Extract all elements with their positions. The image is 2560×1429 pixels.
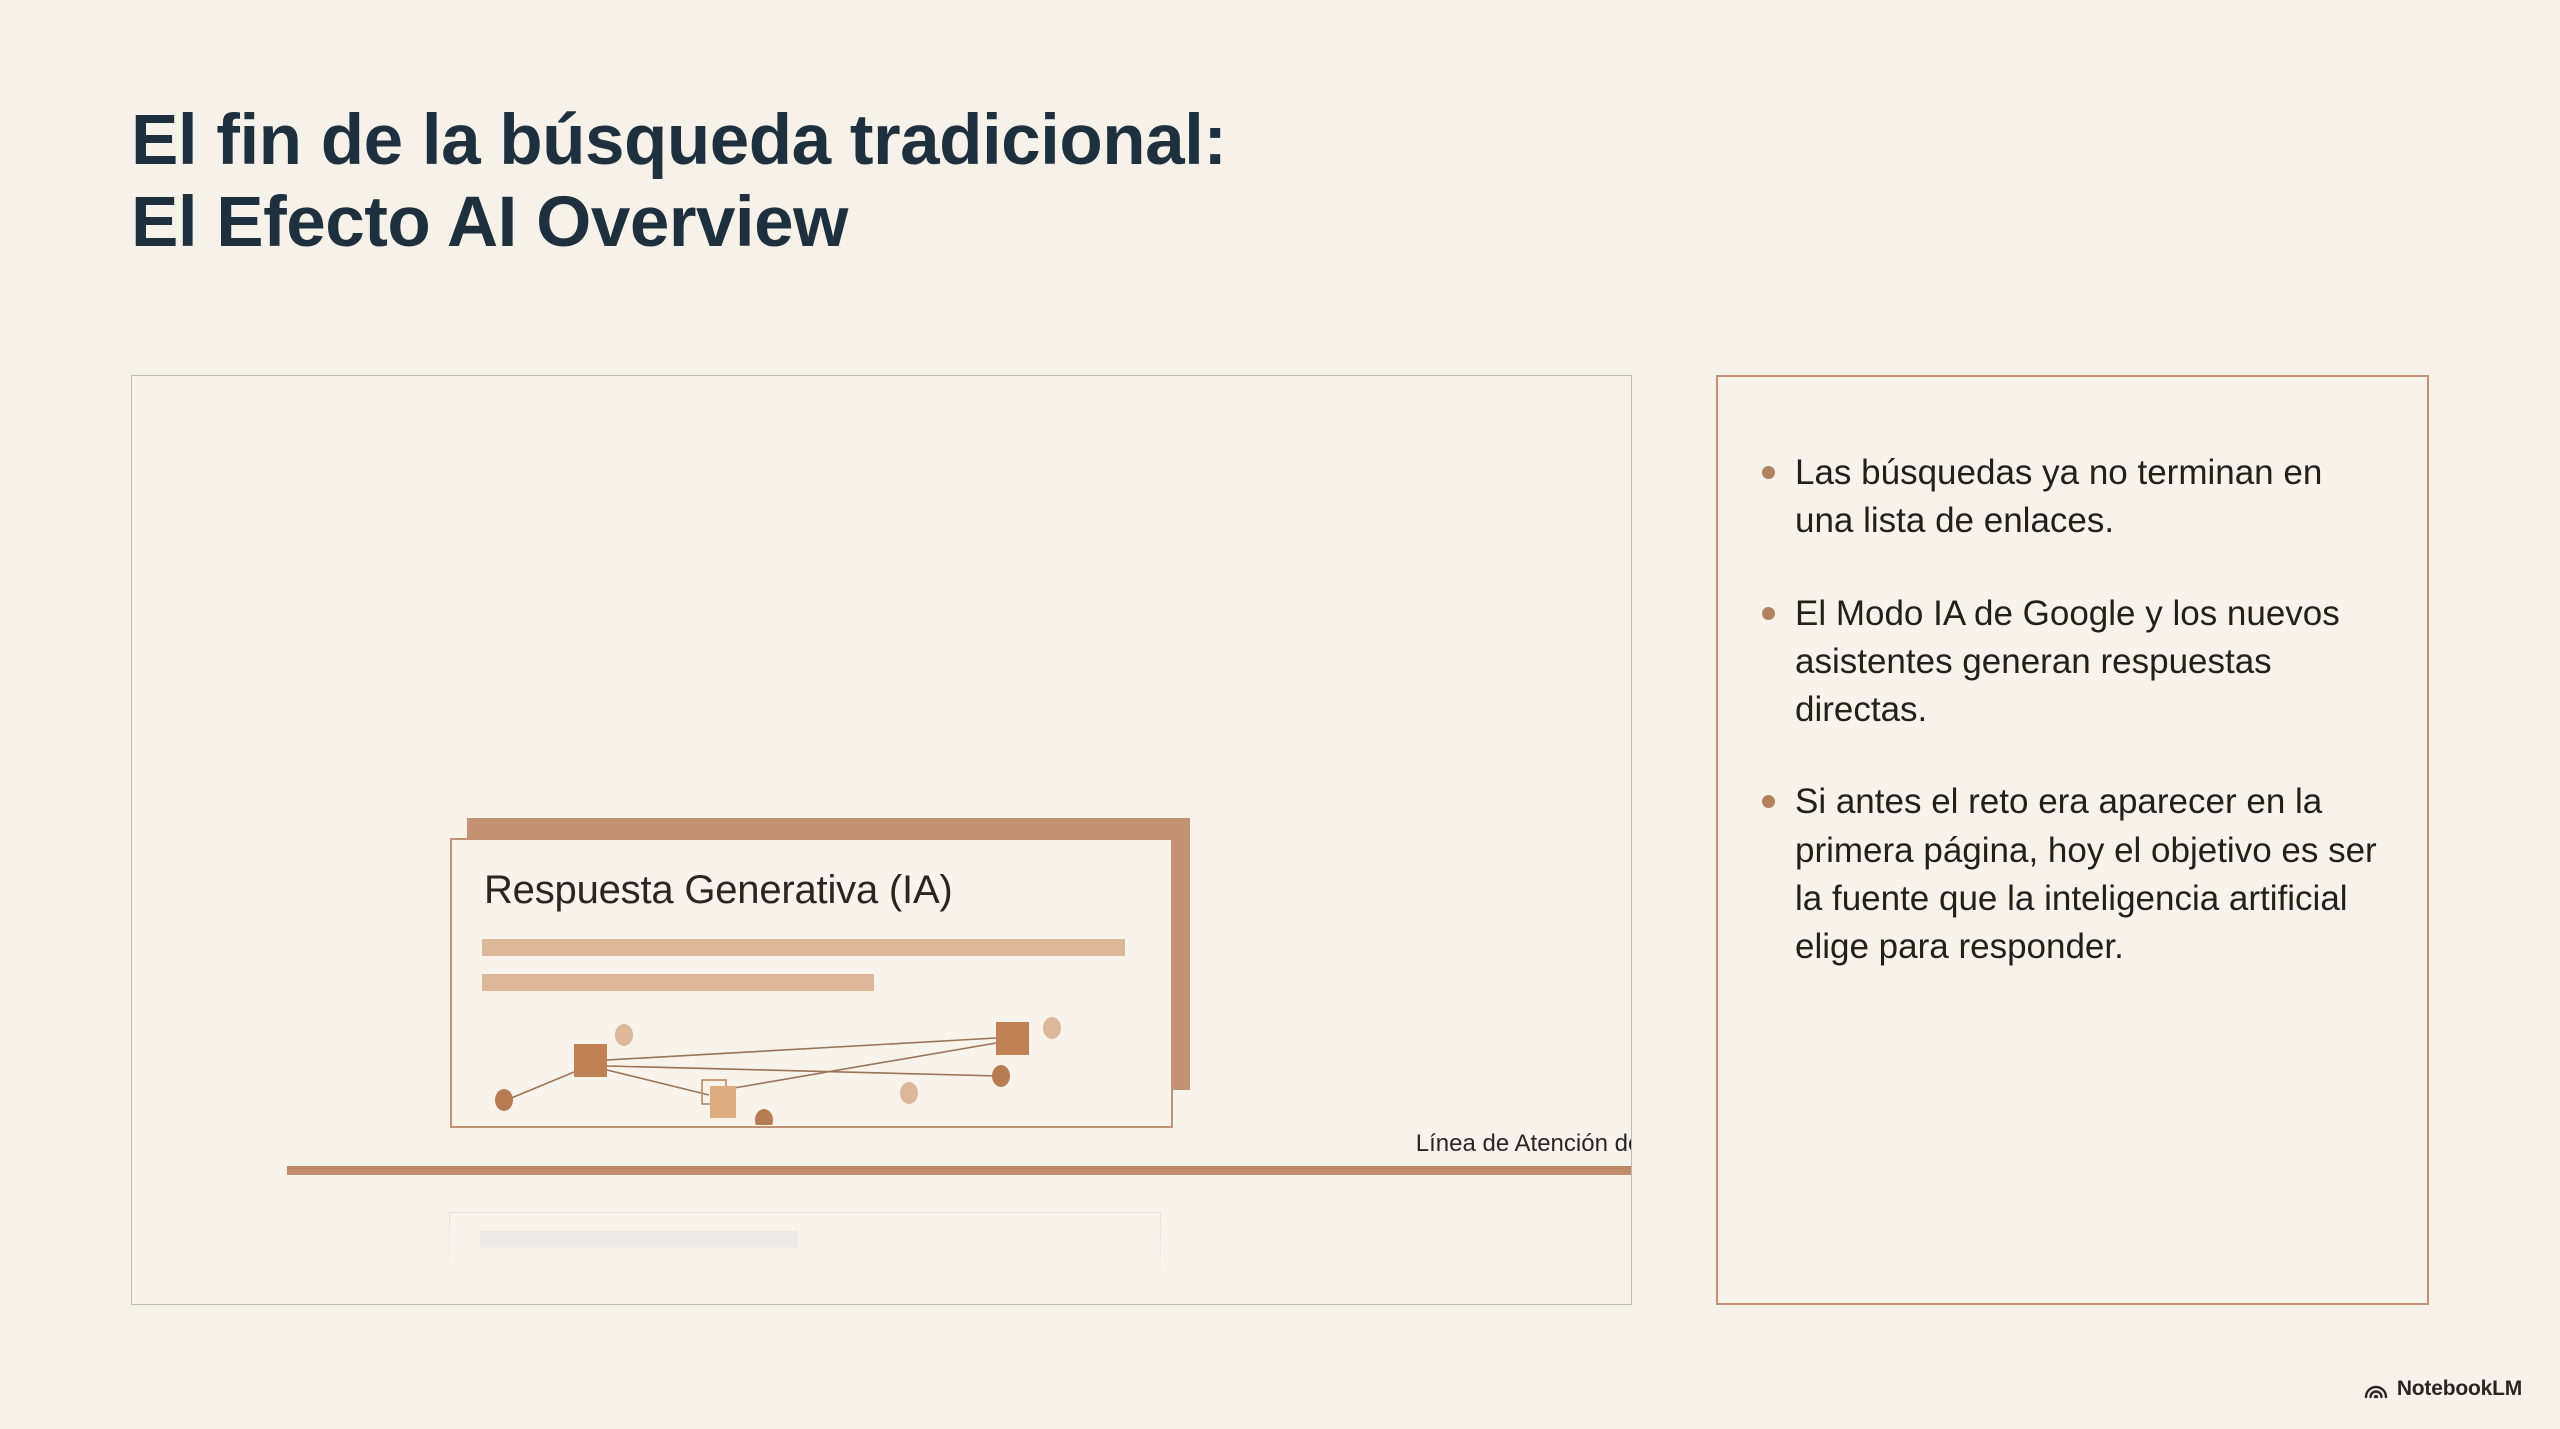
- page-title-line-1: El fin de la búsqueda tradicional:: [131, 100, 1831, 182]
- edge-left-square-to-mid-square: [607, 1070, 709, 1095]
- node-square-small-mid: [710, 1086, 736, 1118]
- bullet-dot-icon: [1762, 466, 1775, 479]
- list-item: Las búsquedas ya no terminan en una list…: [1762, 449, 2383, 546]
- edge-left-square-to-right-dot: [607, 1066, 999, 1076]
- edge-mid-square-to-right-square: [734, 1042, 1002, 1088]
- diagram-panel: Respuesta Generativa (IA): [131, 375, 1632, 1305]
- notebooklm-arc-icon: [2364, 1379, 2388, 1399]
- bullet-dot-icon: [1762, 607, 1775, 620]
- list-item: El Modo IA de Google y los nuevos asiste…: [1762, 590, 2383, 735]
- key-points-panel: Las búsquedas ya no terminan en una list…: [1716, 375, 2429, 1305]
- node-dot-bottom: [755, 1109, 773, 1125]
- generative-answer-card: Respuesta Generativa (IA): [450, 838, 1173, 1128]
- bullet-text: Si antes el reto era aparecer en la prim…: [1795, 778, 2383, 971]
- page-title: El fin de la búsqueda tradicional: El Ef…: [131, 100, 1831, 265]
- bullet-dot-icon: [1762, 795, 1775, 808]
- result-skeleton-line: [480, 1270, 1098, 1287]
- notebooklm-branding: NotebookLM: [2364, 1377, 2522, 1401]
- node-square-large-left: [574, 1044, 607, 1077]
- knowledge-graph-illustration: [474, 1000, 1164, 1125]
- attention-line-bar: [287, 1166, 1632, 1175]
- generative-card-title: Respuesta Generativa (IA): [484, 868, 953, 913]
- bullet-text: Las búsquedas ya no terminan en una list…: [1795, 449, 2383, 546]
- page-title-line-2: El Efecto AI Overview: [131, 182, 1831, 264]
- generative-card-bar-2: [482, 974, 874, 991]
- node-dot-upper-left: [615, 1024, 633, 1046]
- node-dot-left-low: [495, 1089, 513, 1111]
- list-item: Si antes el reto era aparecer en la prim…: [1762, 778, 2383, 971]
- result-skeleton-line: [480, 1299, 952, 1305]
- result-skeleton-line: [480, 1231, 798, 1248]
- notebooklm-brand-text: NotebookLM: [2397, 1377, 2522, 1401]
- edge-left-square-to-right-square: [607, 1038, 996, 1060]
- node-dot-center-low: [900, 1082, 918, 1104]
- node-dot-right-mid: [992, 1065, 1010, 1087]
- attention-line-label: Línea de Atención del Usuario: [1132, 1130, 1632, 1158]
- bullet-text: El Modo IA de Google y los nuevos asiste…: [1795, 590, 2383, 735]
- slide-root: El fin de la búsqueda tradicional: El Ef…: [0, 0, 2560, 1429]
- node-dot-far-right-top: [1043, 1017, 1061, 1039]
- generative-card-bar-1: [482, 939, 1125, 956]
- result-card-1: [449, 1212, 1161, 1305]
- edge-left-square-to-left-dot: [509, 1072, 574, 1099]
- node-square-large-right: [996, 1022, 1029, 1055]
